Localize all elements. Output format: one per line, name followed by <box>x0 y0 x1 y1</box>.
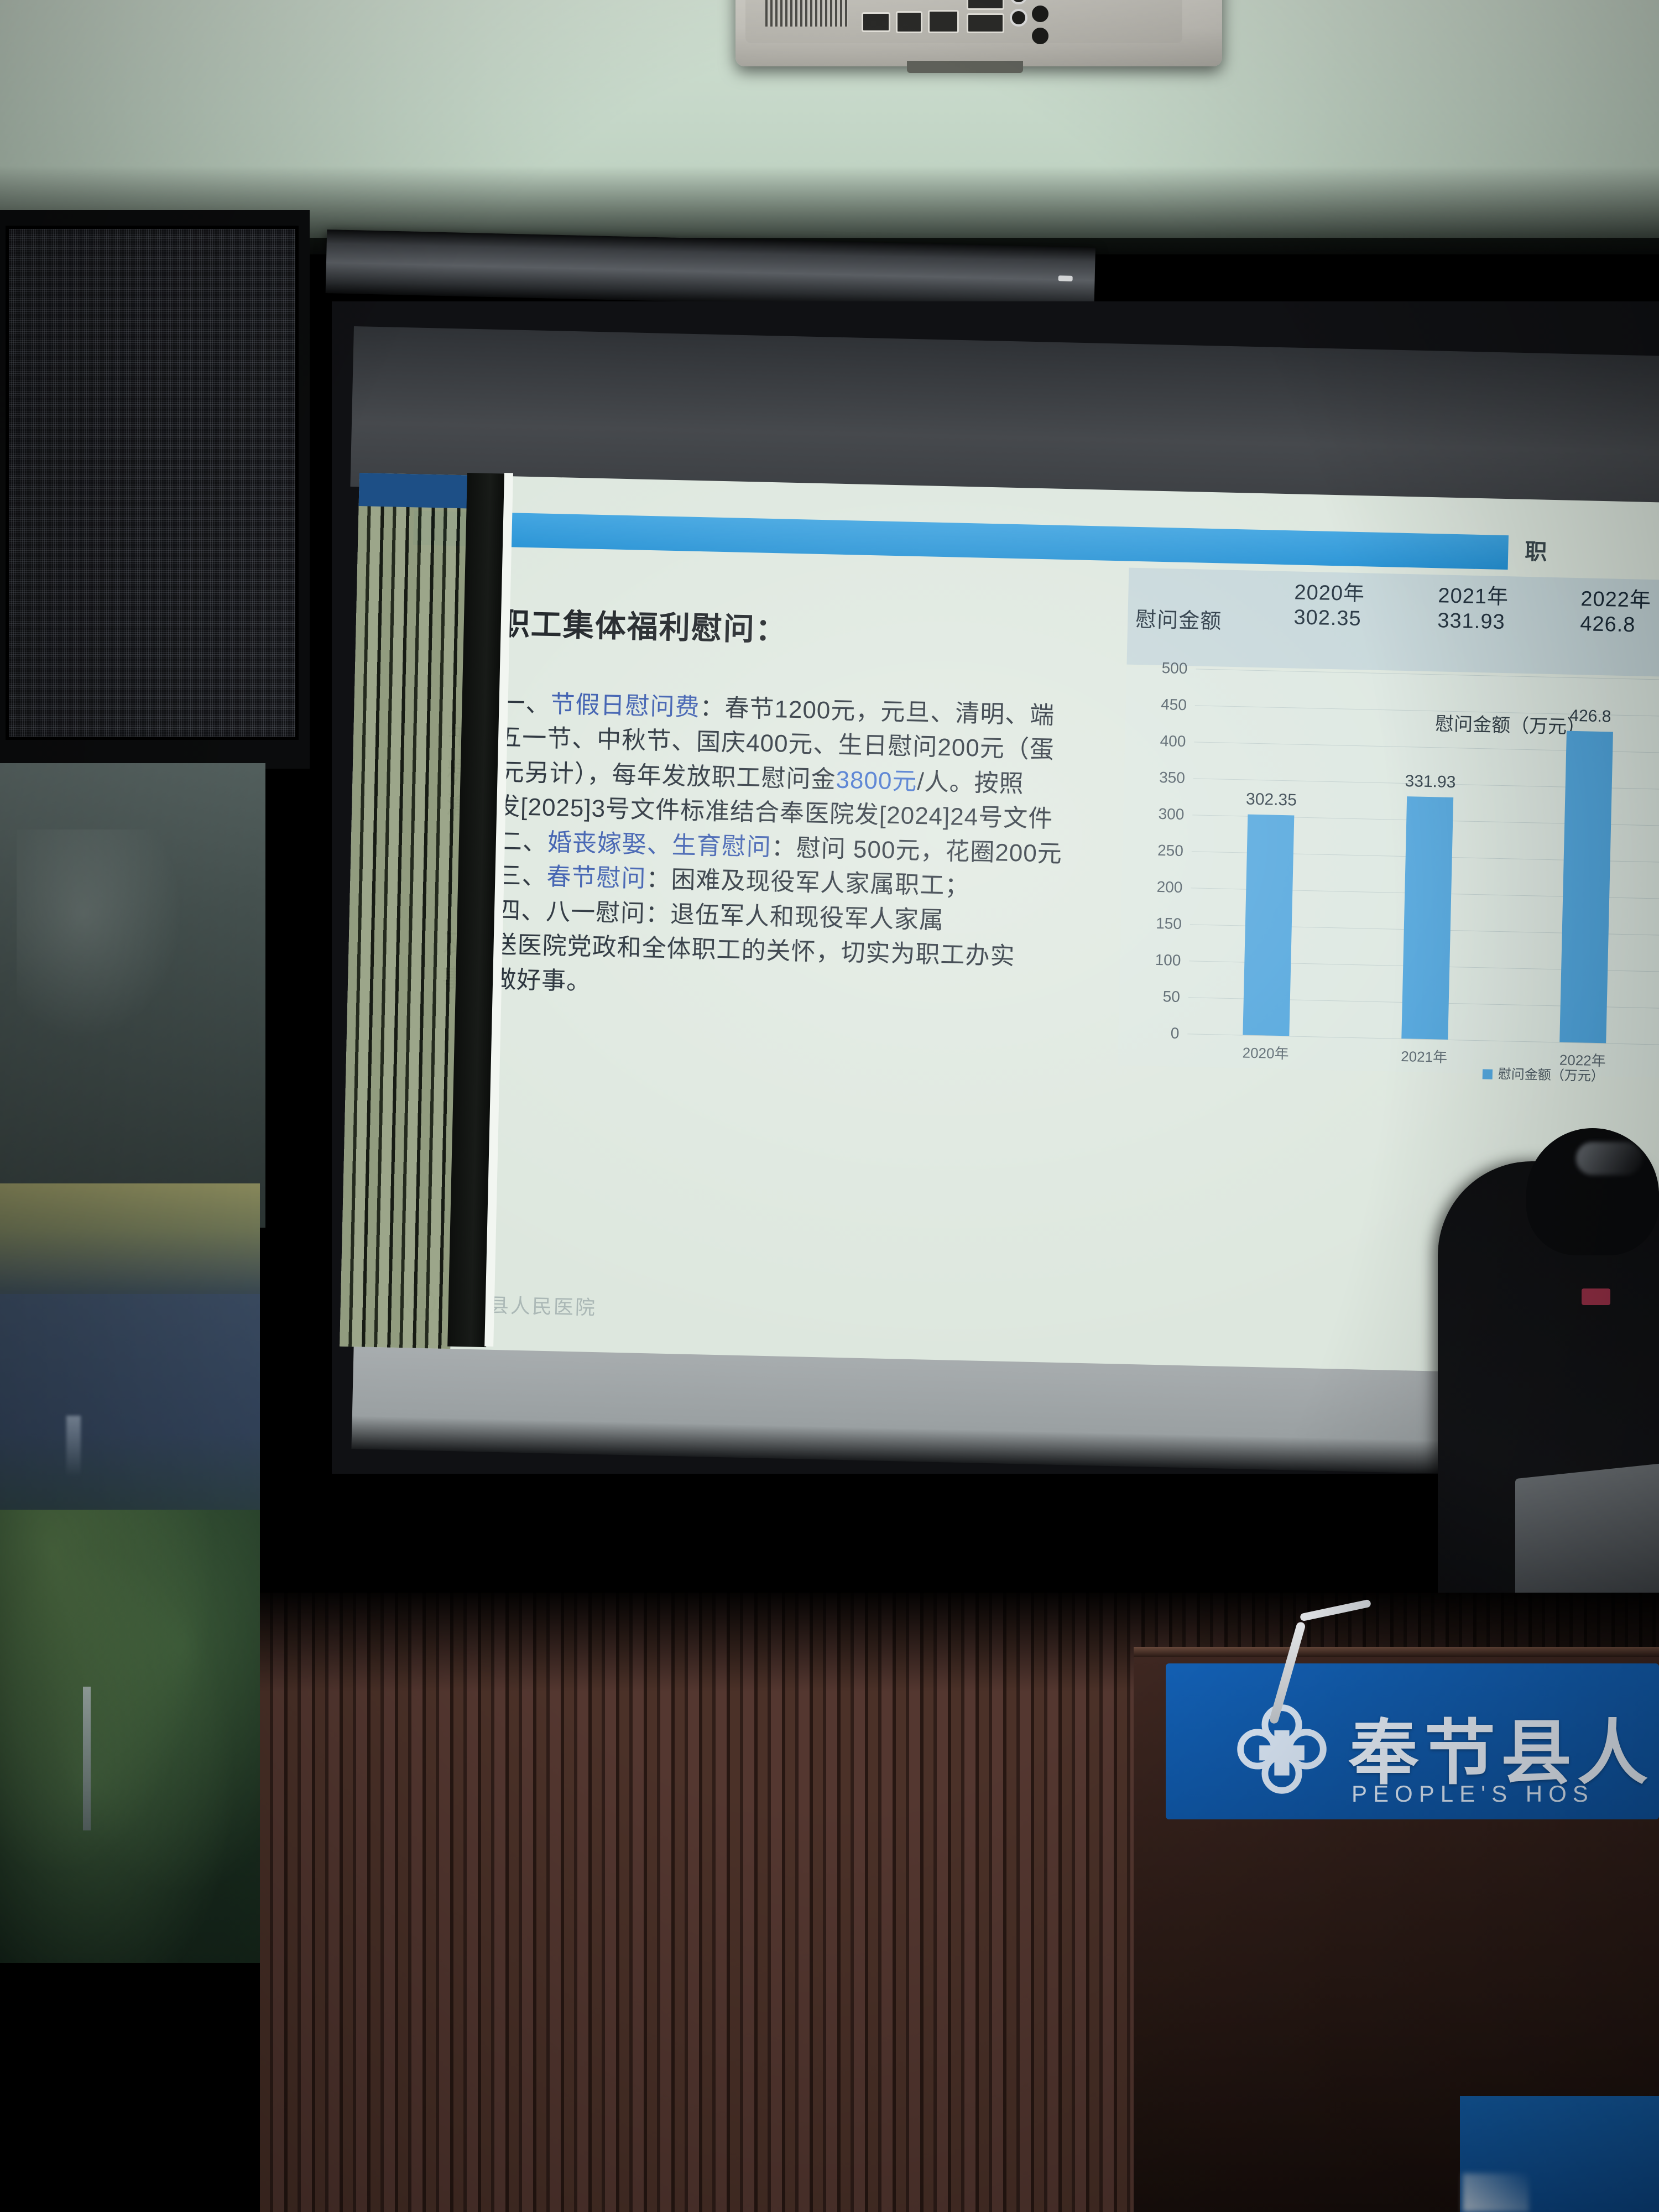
chart-y-tick-100: 100 <box>1120 950 1187 969</box>
chart-bar-value-2022年: 426.8 <box>1531 706 1651 727</box>
mural-post <box>83 1687 91 1830</box>
projector-vga-port-bottom <box>967 13 1004 33</box>
chart-bar-2021年[interactable] <box>1401 796 1453 1040</box>
bottom-right-blue-panel-glint <box>1463 2173 1529 2212</box>
slide-header-accent-bar <box>413 510 1509 570</box>
projector-port-3 <box>928 10 959 33</box>
chart-y-tick-350: 350 <box>1124 768 1191 787</box>
podium-sign: 奉节县人 PEOPLE'S HOS <box>1166 1663 1659 1819</box>
chart-y-tick-250: 250 <box>1123 841 1190 860</box>
slide-body-highlight: 婚丧嫁娶、生育慰问 <box>547 829 771 861</box>
chart-table-row-label: 慰问金额 <box>1135 602 1222 635</box>
mural-foliage <box>0 1510 260 1963</box>
projector-audio-jack-3 <box>1032 6 1048 22</box>
chart-data-table: 2020年 2021年 2022年 慰问金额 302.35 331.93 426… <box>1126 568 1659 677</box>
chart-y-tick-400: 400 <box>1125 732 1192 751</box>
projector-vga-port-top <box>967 0 1004 10</box>
left-wall-panel <box>0 763 265 1228</box>
chart-legend-swatch <box>1483 1069 1493 1079</box>
projector-audio-jack-4 <box>1032 28 1048 44</box>
chart-y-tick-500: 500 <box>1126 659 1193 678</box>
slide-body-highlight: 节假日慰问费 <box>550 691 700 721</box>
slide-body-text: 一、节假日慰问费：春节1200元，元旦、清明、端 午、五一节、中秋节、国庆400… <box>442 685 1073 1010</box>
chart-y-tick-50: 50 <box>1119 987 1186 1006</box>
chart-y-tick-300: 300 <box>1123 805 1190 824</box>
chart-y-tick-0: 0 <box>1118 1023 1185 1042</box>
slide-body-highlight: 春节慰问 <box>546 863 646 893</box>
wall-speaker-grille <box>6 226 299 740</box>
slide-header-right-glyph: 职 <box>1525 534 1546 566</box>
chart-x-tick-2021年: 2021年 <box>1364 1045 1484 1068</box>
mural-water <box>0 1294 260 1526</box>
chart-bar-slot-2022年: 426.82022年 <box>1505 676 1659 1044</box>
ceiling-projector <box>735 0 1222 66</box>
chart-table-header-2021: 2021年 <box>1438 578 1509 610</box>
presenter-laptop <box>1515 1463 1659 1611</box>
chart-x-tick-2020年: 2020年 <box>1206 1041 1326 1064</box>
chart-table-header-2022: 2022年 <box>1580 581 1652 613</box>
projector-vent-grille <box>765 0 848 27</box>
chart-y-tick-450: 450 <box>1126 695 1193 714</box>
projector-mount-foot <box>907 61 1023 73</box>
chart-bar-slot-2020年: 302.352020年 <box>1187 669 1354 1037</box>
chart-plot-area: 慰问金额（万元） 500450400350300250200150100500 … <box>1118 667 1659 1078</box>
roller-case-glint <box>1058 275 1073 281</box>
projector-rear-panel <box>745 0 1182 43</box>
chart-bar-value-2021年: 331.93 <box>1370 771 1490 792</box>
screen-fold-stripes-cap <box>359 473 470 509</box>
hospital-cross-logo-icon <box>1235 1702 1329 1796</box>
chart-table-cell-2021: 331.93 <box>1437 609 1505 634</box>
chart-bar-2022年[interactable] <box>1560 731 1614 1043</box>
projector-audio-jack-1 <box>1010 0 1027 4</box>
chart-table-cell-2020: 302.35 <box>1293 606 1361 631</box>
chart-bar-2020年[interactable] <box>1243 815 1294 1036</box>
podium-top-edge <box>1134 1647 1659 1657</box>
presenter-badge <box>1582 1288 1610 1305</box>
chart-bar-value-2020年: 302.35 <box>1212 789 1332 811</box>
chart-table-cell-2022: 426.8 <box>1580 612 1636 637</box>
projector-port-1 <box>862 12 890 32</box>
podium-sign-english-text: PEOPLE'S HOS <box>1352 1781 1594 1807</box>
chart-table-header-2020: 2020年 <box>1294 575 1365 607</box>
embedded-chart-object[interactable]: 2020年 2021年 2022年 慰问金额 302.35 331.93 426… <box>1117 568 1659 1094</box>
presenter-hair-highlight <box>1576 1142 1642 1175</box>
conference-room-scene: 职 职工集体福利慰问： 一、节假日慰问费：春节1200元，元旦、清明、端 午、五… <box>0 0 1659 2212</box>
projector-port-2 <box>896 11 922 33</box>
chart-y-axis: 500450400350300250200150100500 <box>1118 667 1193 1034</box>
slide-title: 职工集体福利慰问： <box>498 599 788 650</box>
chart-bar-slot-2021年: 331.932021年 <box>1346 672 1513 1041</box>
chart-bars: 302.352020年331.932021年426.82022年 <box>1187 669 1659 1044</box>
chart-legend-label: 慰问金额（万元） <box>1498 1067 1605 1084</box>
chart-legend: 慰问金额（万元） <box>1483 1062 1605 1084</box>
projector-audio-jack-2 <box>1010 9 1027 27</box>
slide-body-amount-emphasis: 3800元 <box>836 766 917 795</box>
chart-y-tick-200: 200 <box>1121 877 1188 896</box>
mural-reflection <box>66 1416 81 1477</box>
chart-y-tick-150: 150 <box>1121 914 1188 933</box>
